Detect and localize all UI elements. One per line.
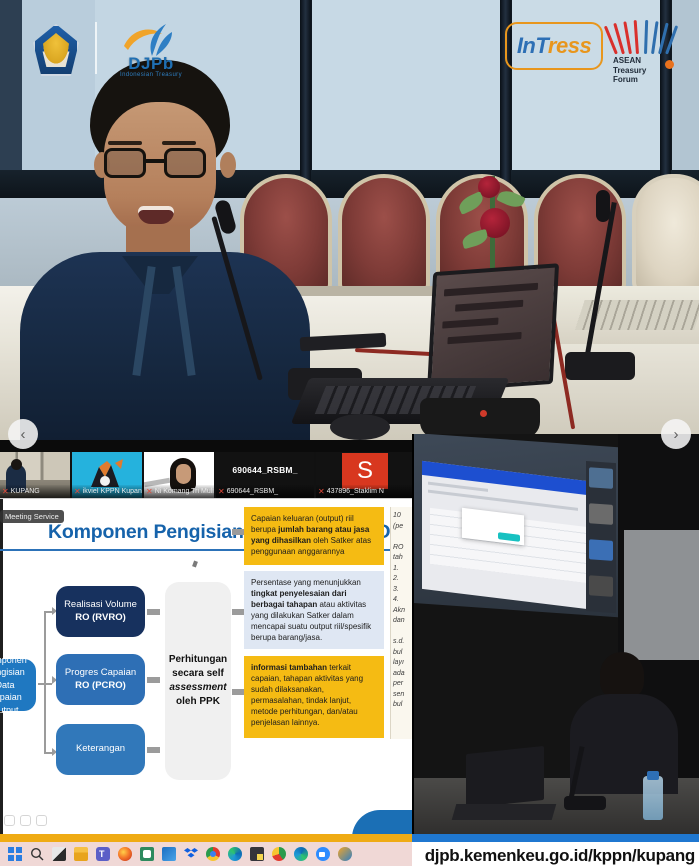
slide-side-column: 10 (pe RO tah 1. 2. 3. 4. Akn dan s.d. b…: [390, 507, 412, 739]
notes-icon[interactable]: [246, 843, 268, 865]
conference-mic-unit: [420, 398, 540, 438]
participant-thumbnail-strip[interactable]: ✕ KUPANG ✕ ikvieI KPPN Kupang ✕ Ni Koman…: [0, 452, 412, 498]
microphone-base: [565, 352, 635, 380]
intress-text-1: InT: [517, 33, 548, 58]
mouse-cursor-icon: [192, 560, 198, 567]
diagram-node-pcro-label: Progres Capaian: [65, 667, 136, 678]
zoom-icon[interactable]: [312, 843, 334, 865]
mute-icon: ✕: [146, 488, 153, 496]
bottle-cap: [647, 771, 659, 780]
next-page-button[interactable]: ›: [661, 419, 691, 449]
footer-bar-yellow: [0, 834, 412, 842]
slide-icon-3[interactable]: [36, 815, 47, 826]
url-overlay-text: djpb.kemenkeu.go.id/kppn/kupang: [425, 846, 695, 866]
connector: [44, 611, 46, 753]
desc-ket-b: terkait capaian, tahapan aktivitas yang …: [251, 663, 363, 727]
description-box-pcro: Persentase yang menunjukkan tingkat peny…: [244, 571, 384, 649]
wall-panel: [624, 530, 699, 660]
search-icon[interactable]: [26, 843, 48, 865]
connector-stub: [147, 677, 160, 683]
main-video-tile[interactable]: DJPb Indonesian Treasury InTress: [0, 0, 699, 440]
water-bottle: [643, 776, 663, 820]
file-explorer-icon[interactable]: [70, 843, 92, 865]
chrome-alt-icon[interactable]: [268, 843, 290, 865]
diagram-node-pcro-code: RO (PCRO): [75, 680, 126, 691]
participant-thumbnail[interactable]: ✕ KUPANG: [0, 452, 72, 498]
projected-screen: [412, 434, 618, 617]
chevron-right-icon: ›: [674, 426, 679, 443]
diagram-node-rvro: Realisasi Volume RO (RVRO): [56, 586, 145, 637]
secondary-video-tile[interactable]: [412, 434, 699, 838]
store-icon[interactable]: [136, 843, 158, 865]
diagram-node-source-label: Komponen Pengisian Data Capaian Output: [0, 654, 30, 717]
diagram-node-pcro: Progres Capaian RO (PCRO): [56, 654, 145, 705]
perhitungan-line-2: secara self: [172, 668, 224, 679]
participant-name: Ni Komang Tri Muliani: [155, 488, 214, 495]
perhitungan-line-3: assessment: [169, 682, 226, 693]
participant-thumbnail[interactable]: ✕ ikvieI KPPN Kupang: [72, 452, 144, 498]
intress-text-3: ss: [568, 33, 591, 58]
diagram-node-perhitungan: Perhitungan secara self assessment oleh …: [165, 582, 231, 780]
task-view-icon[interactable]: [48, 843, 70, 865]
connector-stub: [147, 609, 160, 615]
intress-logo-icon: InTress: [505, 22, 603, 70]
atf-line-2: Treasury: [613, 66, 685, 76]
shared-slide[interactable]: Komponen Pengisian Data Capaian Output K…: [0, 498, 412, 838]
participant-thumbnail[interactable]: S ✕ 437896_Staklim N: [316, 452, 412, 498]
description-box-rvro: Capaian keluaran (output) riil berupa ju…: [244, 507, 384, 565]
outlook-icon[interactable]: [158, 843, 180, 865]
computer-mouse: [330, 414, 390, 440]
atf-dot-icon: [665, 60, 674, 69]
diagram-node-keterangan-label: Keterangan: [76, 743, 125, 756]
mute-icon: ✕: [218, 488, 225, 496]
windows-start-icon[interactable]: [4, 843, 26, 865]
browser-window-preview: [422, 461, 602, 611]
participant-thumbnail[interactable]: 690644_RSBM_ ✕ 690644_RSBM_: [216, 452, 316, 498]
djpb-icon[interactable]: [334, 843, 356, 865]
perhitungan-line-1: Perhitungan: [169, 654, 227, 665]
participant-name: ikvieI KPPN Kupang: [83, 488, 142, 495]
laptop-screen: [466, 746, 544, 808]
kemenkeu-logo-icon: [33, 24, 79, 76]
intress-text-2: re: [548, 33, 568, 58]
participant-thumbnail[interactable]: ✕ Ni Komang Tri Muliani: [144, 452, 216, 498]
mute-icon: ✕: [74, 488, 81, 496]
branding-logo-bar: DJPb Indonesian Treasury InTress: [0, 0, 699, 95]
perhitungan-line-4: oleh PPK: [176, 696, 220, 707]
chevron-left-icon: ‹: [21, 426, 26, 443]
djpb-logo-tagline: Indonesian Treasury: [108, 72, 194, 78]
slide-icon-1[interactable]: [4, 815, 15, 826]
microphone-icon: [596, 190, 610, 222]
footer-bar-blue: [412, 834, 699, 842]
logo-divider: [95, 22, 97, 74]
teams-icon[interactable]: T: [92, 843, 114, 865]
meeting-service-badge: Meeting Service: [0, 510, 64, 523]
mute-icon: ✕: [2, 488, 9, 496]
mute-icon: ✕: [318, 488, 325, 496]
diagram-node-source: Komponen Pengisian Data Capaian Output: [0, 659, 36, 711]
description-box-keterangan: informasi tambahan terkait capaian, taha…: [244, 656, 384, 738]
desc-pcro-a: Persentase yang menunjukkan: [251, 578, 361, 587]
djpb-logo-icon: DJPb Indonesian Treasury: [108, 24, 194, 80]
participant-name: KUPANG: [11, 488, 40, 495]
atf-line-1: ASEAN: [613, 56, 685, 66]
mic-led-indicator: [480, 410, 487, 417]
attendee-person: [564, 652, 684, 792]
diagram-node-rvro-label: Realisasi Volume: [64, 599, 137, 610]
edge-icon[interactable]: [224, 843, 246, 865]
laptop-keyboard: [452, 804, 557, 820]
atf-bars-icon: [613, 20, 685, 56]
djpb-logo-text: DJPb: [108, 54, 194, 74]
atf-line-3: Forum: [613, 75, 685, 85]
participant-display-name: 690644_RSBM_: [232, 465, 297, 475]
asean-treasury-forum-logo-icon: ASEAN Treasury Forum: [613, 20, 687, 86]
participant-name: 437896_Staklim N: [327, 488, 384, 495]
djpb-swoosh-icon: [122, 24, 176, 56]
diagram-node-keterangan: Keterangan: [56, 724, 145, 775]
avatar: S: [342, 453, 388, 489]
connector-stub: [147, 747, 160, 753]
participant-name: 690644_RSBM_: [227, 488, 278, 495]
prev-page-button[interactable]: ‹: [8, 419, 38, 449]
dropbox-icon[interactable]: [180, 843, 202, 865]
video-sidebar-preview: [586, 461, 616, 613]
laptop-screen: [427, 263, 559, 392]
diagram-node-rvro-code: RO (RVRO): [75, 612, 126, 623]
slide-icon-2[interactable]: [20, 815, 31, 826]
microphone-base: [564, 796, 606, 810]
chrome-icon[interactable]: [202, 843, 224, 865]
edge-alt-icon[interactable]: [290, 843, 312, 865]
desc-ket-a: informasi tambahan: [251, 663, 327, 672]
firefox-icon[interactable]: [114, 843, 136, 865]
screenshot-root: DJPb Indonesian Treasury InTress: [0, 0, 699, 866]
speaker-person: [30, 60, 300, 440]
slide-ui-icons[interactable]: [4, 815, 47, 826]
